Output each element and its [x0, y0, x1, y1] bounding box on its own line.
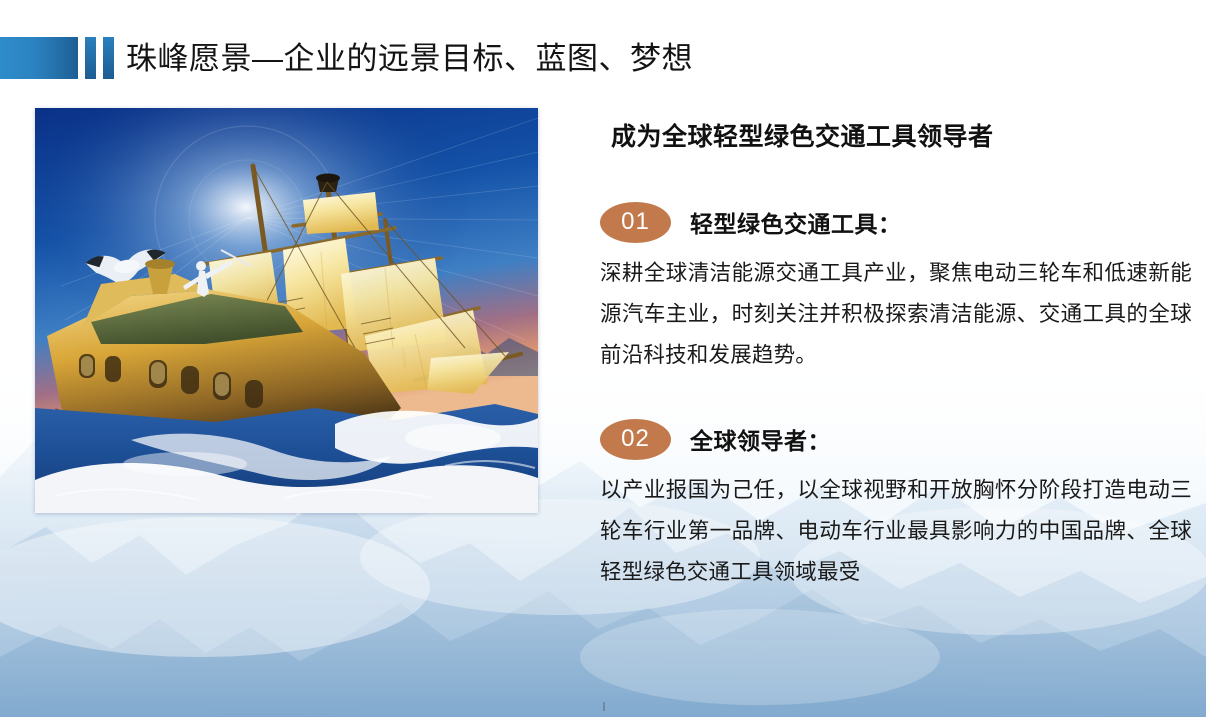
- block-02-header: 02 全球领导者：: [600, 417, 1192, 461]
- block-01-title: 轻型绿色交通工具：: [690, 205, 902, 239]
- sailing-ship-illustration-icon: [35, 108, 538, 513]
- header-accent-bar-icon: [0, 37, 78, 79]
- page-mark: [603, 702, 605, 711]
- badge-02: 02: [600, 419, 671, 460]
- content-column: 成为全球轻型绿色交通工具领导者 01 轻型绿色交通工具： 深耕全球清洁能源交通工…: [600, 120, 1192, 593]
- ship-photo: [35, 108, 538, 513]
- block-02-body: 以产业报国为己任，以全球视野和开放胸怀分阶段打造电动三轮车行业第一品牌、电动车行…: [600, 470, 1192, 593]
- section-heading: 成为全球轻型绿色交通工具领导者: [611, 120, 1192, 154]
- page-title: 珠峰愿景—企业的远景目标、蓝图、梦想: [126, 38, 693, 80]
- header-tick-2-icon: [103, 37, 114, 79]
- slide-root: 珠峰愿景—企业的远景目标、蓝图、梦想: [0, 0, 1206, 717]
- content-block-02: 02 全球领导者： 以产业报国为己任，以全球视野和开放胸怀分阶段打造电动三轮车行…: [600, 417, 1192, 593]
- block-01-body: 深耕全球清洁能源交通工具产业，聚焦电动三轮车和低速新能源汽车主业，时刻关注并积极…: [600, 253, 1192, 376]
- content-block-01: 01 轻型绿色交通工具： 深耕全球清洁能源交通工具产业，聚焦电动三轮车和低速新能…: [600, 200, 1192, 376]
- block-02-title: 全球领导者：: [690, 422, 831, 456]
- header-tick-1-icon: [85, 37, 96, 79]
- slide-header: 珠峰愿景—企业的远景目标、蓝图、梦想: [0, 0, 1206, 108]
- badge-01: 01: [600, 202, 671, 243]
- block-01-header: 01 轻型绿色交通工具：: [600, 200, 1192, 244]
